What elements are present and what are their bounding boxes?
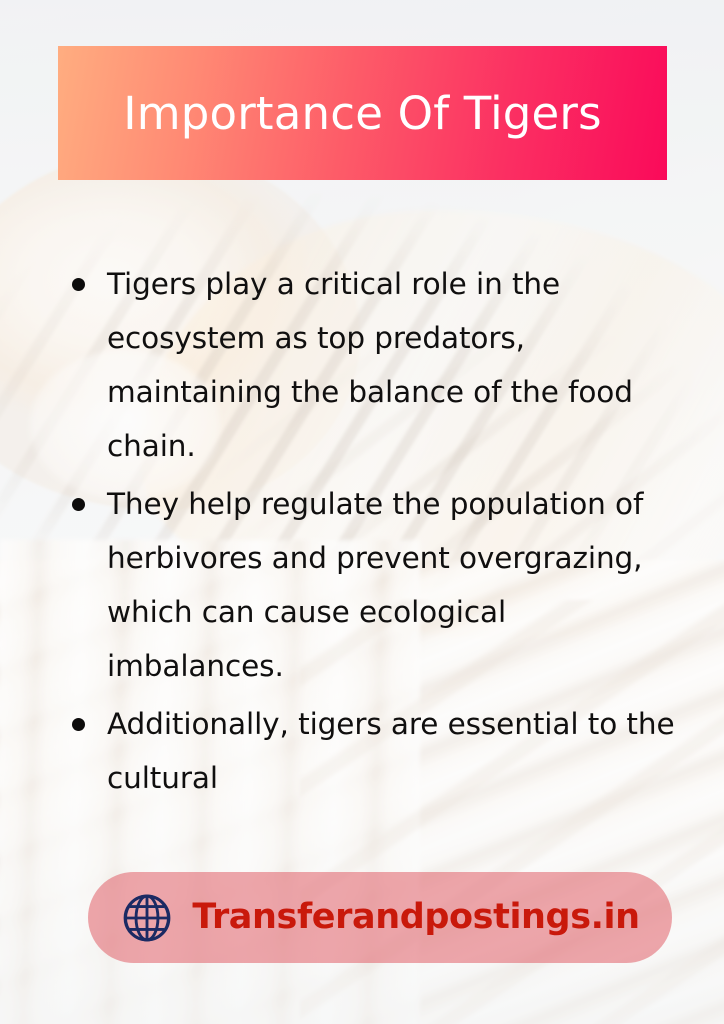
globe-icon <box>120 891 174 945</box>
list-item-text: Additionally, tigers are essential to th… <box>107 707 675 795</box>
list-item: They help regulate the population of her… <box>62 477 687 693</box>
bullet-point-icon <box>72 718 85 731</box>
bullet-point-icon <box>72 498 85 511</box>
footer-website-label: Transferandpostings.in <box>192 900 639 935</box>
header-banner: Importance Of Tigers <box>58 46 667 180</box>
list-item: Tigers play a critical role in the ecosy… <box>62 257 687 473</box>
list-item-text: They help regulate the population of her… <box>107 487 643 683</box>
poster-canvas: Importance Of Tigers Tigers play a criti… <box>0 0 724 1024</box>
list-item: Additionally, tigers are essential to th… <box>62 697 687 805</box>
footer-branding-pill[interactable]: Transferandpostings.in <box>88 872 672 963</box>
bullet-point-icon <box>72 278 85 291</box>
list-item-text: Tigers play a critical role in the ecosy… <box>107 267 633 463</box>
bullet-list: Tigers play a critical role in the ecosy… <box>62 257 687 809</box>
page-title: Importance Of Tigers <box>123 91 602 136</box>
